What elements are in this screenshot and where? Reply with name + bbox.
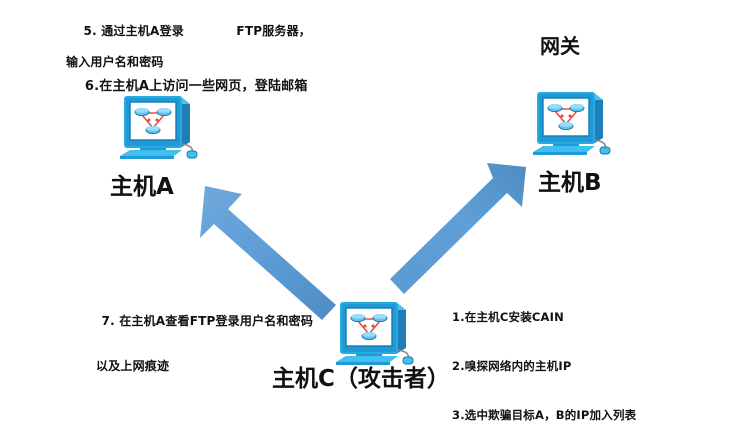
label-gateway: 网关: [540, 30, 580, 59]
note-step-6: 6.在主机A上访问一些网页，登陆邮箱: [66, 61, 308, 112]
label-host-c: 主机C（攻击者）: [272, 359, 450, 393]
computer-icon: [529, 82, 615, 160]
attacker-step-2: 2.嗅探网络内的主机IP: [452, 358, 636, 374]
note-step-7-line-1: 7. 在主机A查看FTP登录用户名和密码: [102, 314, 314, 328]
note-step-6-line-1: 6.在主机A上访问一些网页，登陆邮箱: [85, 79, 308, 94]
note-step-5-line-1: 5. 通过主机A登录 FTP服务器，: [84, 24, 312, 38]
note-attacker-steps: 1.在主机C安装CAIN 2.嗅探网络内的主机IP 3.选中欺骗目标A，B的IP…: [452, 276, 636, 436]
label-host-a: 主机A: [110, 167, 174, 201]
computer-icon-host-b: [529, 82, 615, 160]
label-host-b: 主机B: [538, 163, 602, 197]
attacker-step-1: 1.在主机C安装CAIN: [452, 309, 636, 325]
diagram-canvas: 5. 通过主机A登录 FTP服务器， 输入用户名和密码 6.在主机A上访问一些网…: [0, 0, 755, 436]
arrow-host-c-to-host-b: [390, 163, 526, 294]
attacker-step-3: 3.选中欺骗目标A，B的IP加入列表: [452, 407, 636, 423]
